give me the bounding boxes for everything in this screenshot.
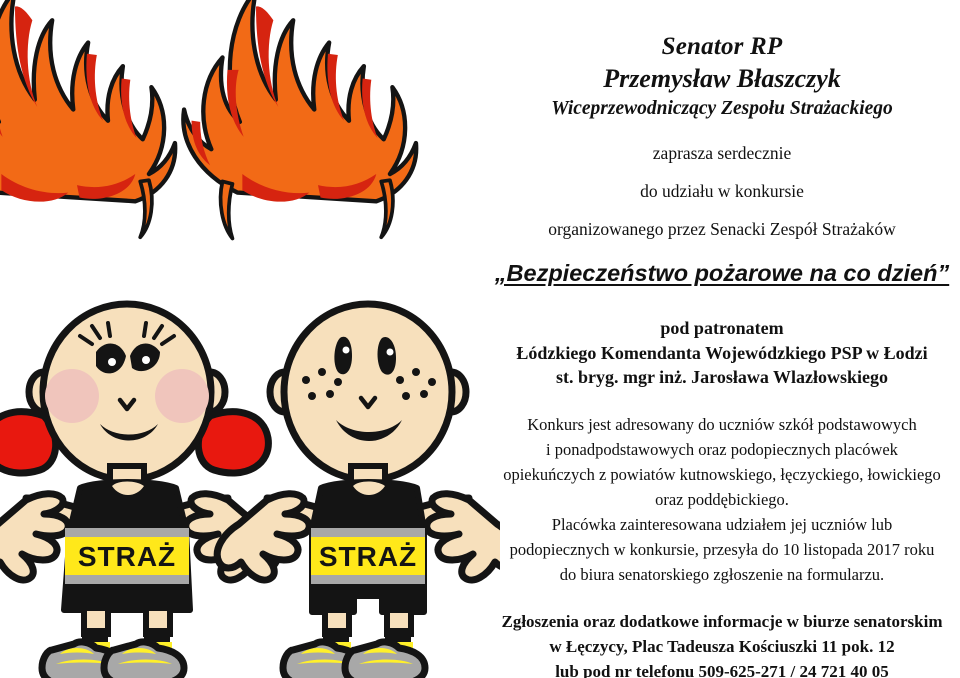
header-block: Senator RP Przemysław Błaszczyk Wiceprze… [484, 0, 960, 122]
invitation-line-3: organizowanego przez Senacki Zespół Stra… [484, 218, 960, 256]
body-line-3: opiekuńczych z powiatów kutnowskiego, łę… [484, 462, 960, 487]
contact-address: w Łęczycy, Plac Tadeusza Kościuszki 11 p… [484, 634, 960, 659]
patronage-line-2: Łódzkiego Komendanta Wojewódzkiego PSP w… [484, 341, 960, 366]
contest-title: „Bezpieczeństwo pożarowe na co dzień” [484, 258, 960, 288]
illustration-firefighter-kids: STRAŻ [0, 0, 500, 678]
senator-name: Przemysław Błaszczyk [484, 62, 960, 95]
invitation-line-2: do udziału w konkursie [484, 180, 960, 218]
body-line-4: oraz poddębickiego. [484, 487, 960, 512]
body-line-5: Placówka zainteresowana udziałem jej ucz… [484, 512, 960, 537]
boy-vest-label: STRAŻ [319, 541, 417, 572]
contact-line-1: Zgłoszenia oraz dodatkowe informacje w b… [484, 609, 960, 634]
body-line-6: podopiecznych w konkursie, przesyła do 1… [484, 537, 960, 562]
senator-title: Senator RP [484, 32, 960, 62]
patronage-block: pod patronatem Łódzkiego Komendanta Woje… [484, 288, 960, 390]
blush-left [45, 369, 99, 423]
patronage-line-1: pod patronatem [484, 316, 960, 341]
poster: STRAŻ [0, 0, 960, 678]
body-line-2: i ponadpodstawowych oraz podopiecznych p… [484, 437, 960, 462]
body-line-1: Konkurs jest adresowany do uczniów szkół… [484, 412, 960, 437]
blush-right [155, 369, 209, 423]
text-column: Senator RP Przemysław Błaszczyk Wiceprze… [484, 0, 960, 678]
invitation-block: zaprasza serdecznie do udziału w konkurs… [484, 122, 960, 256]
patronage-line-3: st. bryg. mgr inż. Jarosława Wlazłowskie… [484, 365, 960, 390]
invitation-line-1: zaprasza serdecznie [484, 142, 960, 180]
girl-vest-label: STRAŻ [78, 541, 176, 572]
body-line-7: do biura senatorskiego zgłoszenie na for… [484, 562, 960, 587]
contact-phone: lub pod nr telefonu 509-625-271 / 24 721… [484, 659, 960, 678]
contact-block: Zgłoszenia oraz dodatkowe informacje w b… [484, 587, 960, 678]
body-block: Konkurs jest adresowany do uczniów szkół… [484, 390, 960, 587]
senator-role: Wiceprzewodniczący Zespołu Strażackiego [484, 95, 960, 122]
